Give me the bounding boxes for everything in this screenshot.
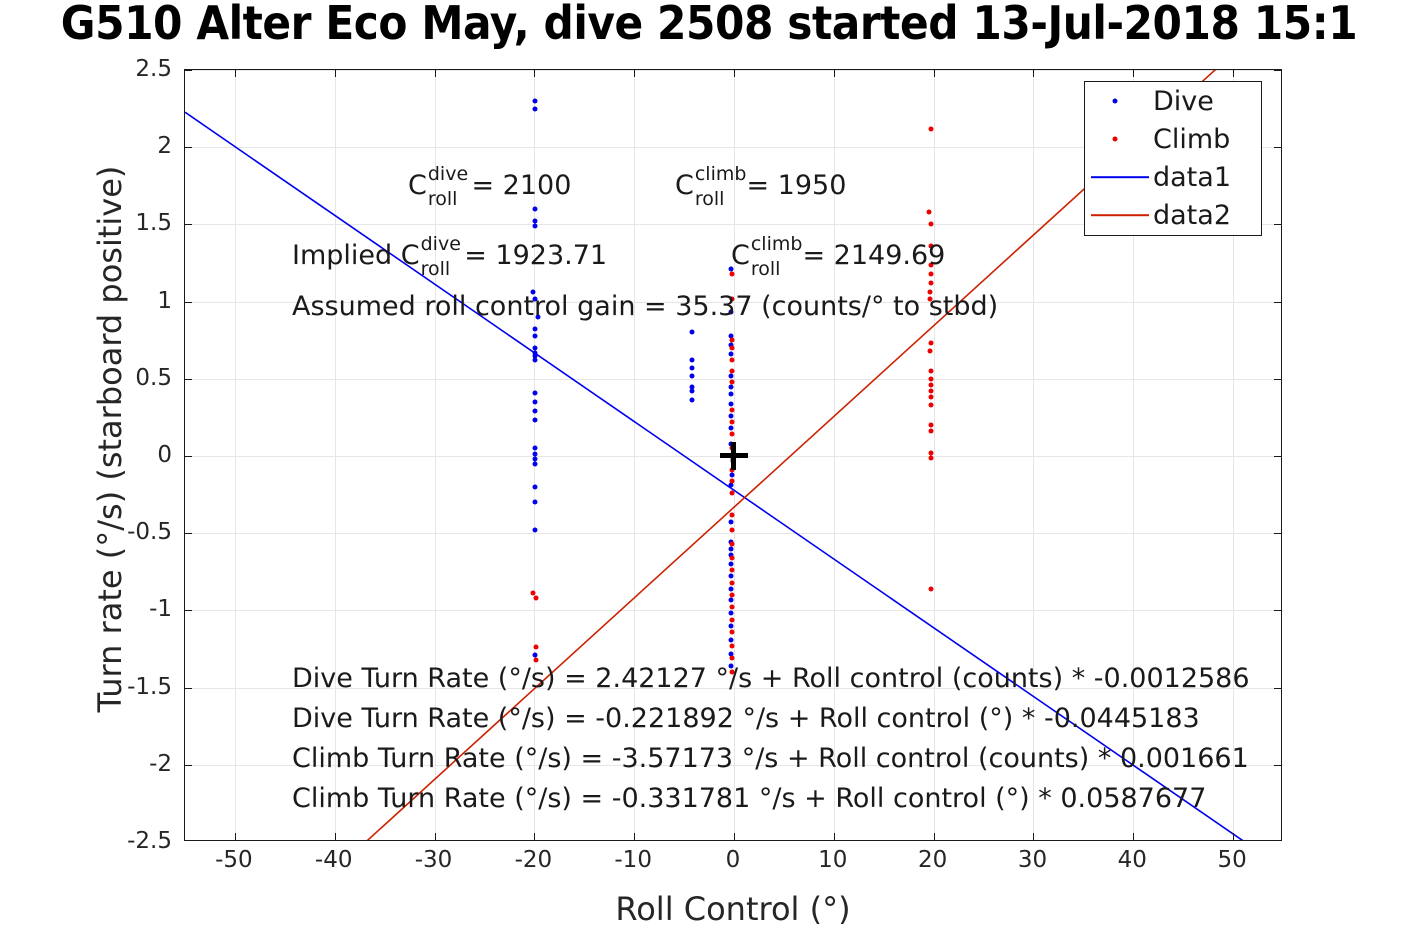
x-tick-mark [1133, 833, 1134, 840]
legend-swatch-glyph [1113, 137, 1118, 142]
data-point-climb [730, 656, 735, 661]
x-tick-mark [734, 70, 735, 77]
x-tick-mark [1033, 833, 1034, 840]
data-point-climb [730, 420, 735, 425]
data-point-dive [690, 358, 695, 363]
data-point-dive [729, 426, 734, 431]
x-tick-mark [1233, 833, 1234, 840]
data-point-climb [926, 210, 931, 215]
data-point-dive [690, 330, 695, 335]
y-tick-label: -0.5 [172, 519, 217, 545]
data-point-climb [730, 630, 735, 635]
data-point-dive [729, 392, 734, 397]
data-point-climb [730, 542, 735, 547]
data-point-dive [533, 390, 538, 395]
legend-marker-swatch [1085, 82, 1153, 120]
data-point-dive [533, 223, 538, 228]
data-point-climb [928, 455, 933, 460]
y-tick-label: 2.5 [172, 56, 209, 82]
data-point-climb [730, 358, 735, 363]
data-point-dive [533, 461, 538, 466]
data-point-climb [730, 617, 735, 622]
data-point-climb [730, 432, 735, 437]
x-tick-mark [1233, 70, 1234, 77]
equation-dive-degrees: Dive Turn Rate (°/s) = -0.221892 °/s + R… [292, 705, 1200, 732]
legend-item-data1[interactable]: data1 [1085, 158, 1261, 196]
data-point-climb [730, 271, 735, 276]
x-tick-mark [335, 833, 336, 840]
data-point-climb [730, 555, 735, 560]
implied-prefix: Implied [292, 240, 401, 271]
data-point-climb [928, 429, 933, 434]
data-point-dive [729, 401, 734, 406]
data-point-climb [730, 478, 735, 483]
data-point-climb [928, 389, 933, 394]
data-point-dive [729, 546, 734, 551]
y-tick-label: -1.5 [172, 674, 217, 700]
x-tick-label: -40 [315, 847, 353, 873]
y-tick-mark [1274, 688, 1281, 689]
x-tick-mark [834, 833, 835, 840]
y-tick-mark [1274, 610, 1281, 611]
data-point-dive [533, 358, 538, 363]
data-point-dive [729, 623, 734, 628]
equation-climb-degrees: Climb Turn Rate (°/s) = -0.331781 °/s + … [292, 785, 1206, 812]
data-point-dive [690, 373, 695, 378]
data-point-climb [730, 369, 735, 374]
y-tick-label: 1.5 [172, 210, 209, 236]
data-point-climb [534, 657, 539, 662]
data-point-climb [730, 528, 735, 533]
data-point-climb [534, 596, 539, 601]
annotation-c-climb: Cclimbroll = 1950 [675, 172, 846, 199]
data-point-dive [729, 352, 734, 357]
annotation-c-dive: Cdiveroll = 2100 [408, 172, 571, 199]
figure-title-text: G510 Alter Eco May, dive 2508 started 13… [60, 0, 1356, 50]
y-tick-label: 0 [172, 442, 187, 468]
data-point-climb [730, 643, 735, 648]
data-point-climb [928, 341, 933, 346]
y-tick-mark [1274, 302, 1281, 303]
x-tick-mark [1033, 70, 1034, 77]
origin-cross-marker [720, 442, 748, 470]
data-point-dive [533, 206, 538, 211]
legend-line-swatch [1085, 158, 1153, 196]
data-point-dive [690, 365, 695, 370]
data-point-dive [690, 389, 695, 394]
legend-item-dive[interactable]: Dive [1085, 82, 1261, 120]
data-point-climb [928, 586, 933, 591]
data-point-climb [730, 407, 735, 412]
y-tick-mark [1274, 533, 1281, 534]
legend-item-climb[interactable]: Climb [1085, 120, 1261, 158]
data-point-climb [730, 605, 735, 610]
x-tick-mark [934, 70, 935, 77]
data-point-dive [690, 398, 695, 403]
data-point-climb [534, 645, 539, 650]
y-tick-label: 1 [172, 288, 187, 314]
data-point-dive [729, 520, 734, 525]
legend-marker-swatch [1085, 120, 1153, 158]
data-point-dive [533, 528, 538, 533]
data-point-dive [533, 98, 538, 103]
plot-legend[interactable]: DiveClimbdata1data2 [1084, 81, 1262, 236]
annotation-implied-climb: Cclimbroll = 2149.69 [731, 242, 945, 269]
data-point-dive [729, 413, 734, 418]
c-climb-value: = 1950 [746, 170, 846, 201]
data-point-dive [533, 484, 538, 489]
data-point-dive [729, 562, 734, 567]
data-point-dive [729, 611, 734, 616]
implied-climb-value: = 2149.69 [802, 240, 945, 271]
x-tick-label: 40 [1118, 847, 1147, 873]
annotation-roll-gain: Assumed roll control gain = 35.37 (count… [292, 293, 998, 320]
x-tick-mark [435, 70, 436, 77]
x-tick-mark [435, 833, 436, 840]
x-axis-label: Roll Control (°) [184, 890, 1282, 928]
figure-title: G510 Alter Eco May, dive 2508 started 13… [0, 0, 1417, 62]
y-tick-mark [1274, 70, 1281, 71]
x-tick-mark [534, 70, 535, 77]
implied-dive-value: = 1923.71 [464, 240, 607, 271]
data-point-dive [533, 327, 538, 332]
x-tick-mark [634, 833, 635, 840]
y-tick-label: 0.5 [172, 365, 209, 391]
legend-swatch-glyph [1113, 99, 1118, 104]
cross-bar [731, 442, 736, 470]
legend-swatch-glyph [1091, 214, 1149, 216]
data-point-climb [928, 423, 933, 428]
y-tick-label: -1 [172, 596, 195, 622]
x-tick-mark [634, 70, 635, 77]
data-point-climb [928, 395, 933, 400]
legend-item-data2[interactable]: data2 [1085, 196, 1261, 234]
legend-label: data2 [1153, 200, 1231, 231]
x-tick-label: 50 [1217, 847, 1246, 873]
x-tick-label: 30 [1018, 847, 1047, 873]
equation-dive-counts: Dive Turn Rate (°/s) = 2.42127 °/s + Rol… [292, 665, 1250, 692]
x-tick-label: 20 [918, 847, 947, 873]
x-tick-mark [534, 833, 535, 840]
x-tick-label: -20 [515, 847, 553, 873]
data-point-climb [928, 376, 933, 381]
x-tick-mark [1133, 70, 1134, 77]
y-tick-mark [1274, 765, 1281, 766]
y-tick-label: -2.5 [172, 828, 217, 854]
data-point-dive [729, 384, 734, 389]
y-tick-mark [1274, 224, 1281, 225]
x-tick-mark [734, 833, 735, 840]
equation-climb-counts: Climb Turn Rate (°/s) = -3.57173 °/s + R… [292, 745, 1249, 772]
c-dive-value: = 2100 [471, 170, 571, 201]
legend-swatch-glyph [1091, 176, 1149, 178]
data-point-dive [729, 574, 734, 579]
figure-canvas: G510 Alter Eco May, dive 2508 started 13… [0, 0, 1417, 945]
data-point-climb [928, 222, 933, 227]
legend-label: Climb [1153, 124, 1230, 155]
legend-label: Dive [1153, 86, 1214, 117]
x-tick-label: 0 [726, 847, 741, 873]
data-point-climb [928, 369, 933, 374]
data-point-dive [533, 500, 538, 505]
data-point-climb [928, 403, 933, 408]
y-tick-label: -2 [172, 751, 195, 777]
annotation-implied-dive: Implied Cdiveroll = 1923.71 [292, 242, 607, 269]
y-tick-mark [1274, 456, 1281, 457]
data-point-dive [729, 597, 734, 602]
data-point-climb [730, 338, 735, 343]
x-tick-label: -30 [415, 847, 453, 873]
data-point-climb [730, 592, 735, 597]
x-tick-mark [934, 833, 935, 840]
y-tick-label: 2 [172, 133, 187, 159]
data-point-climb [927, 349, 932, 354]
legend-line-swatch [1085, 196, 1153, 234]
data-point-dive [533, 333, 538, 338]
x-tick-mark [834, 70, 835, 77]
data-point-dive [533, 399, 538, 404]
data-point-climb [730, 345, 735, 350]
x-tick-label: -10 [614, 847, 652, 873]
x-tick-label: -50 [215, 847, 253, 873]
data-point-climb [928, 382, 933, 387]
y-axis-label: Turn rate (°/s) (starboard positive) [91, 54, 129, 824]
data-point-dive [533, 446, 538, 451]
y-tick-mark [1274, 379, 1281, 380]
legend-label: data1 [1153, 162, 1231, 193]
data-point-dive [730, 472, 735, 477]
data-point-dive [729, 373, 734, 378]
data-point-dive [729, 586, 734, 591]
data-point-climb [730, 568, 735, 573]
x-tick-mark [235, 70, 236, 77]
data-point-dive [533, 409, 538, 414]
data-point-climb [928, 271, 933, 276]
data-point-dive [729, 483, 734, 488]
data-point-dive [729, 637, 734, 642]
x-tick-label: 10 [818, 847, 847, 873]
data-point-dive [533, 418, 538, 423]
data-point-climb [730, 580, 735, 585]
data-point-climb [928, 281, 933, 286]
y-tick-mark [1274, 147, 1281, 148]
x-tick-mark [235, 833, 236, 840]
data-point-climb [928, 126, 933, 131]
data-point-climb [730, 491, 735, 496]
data-point-climb [730, 379, 735, 384]
data-point-dive [533, 106, 538, 111]
x-tick-mark [335, 70, 336, 77]
data-point-climb [730, 512, 735, 517]
